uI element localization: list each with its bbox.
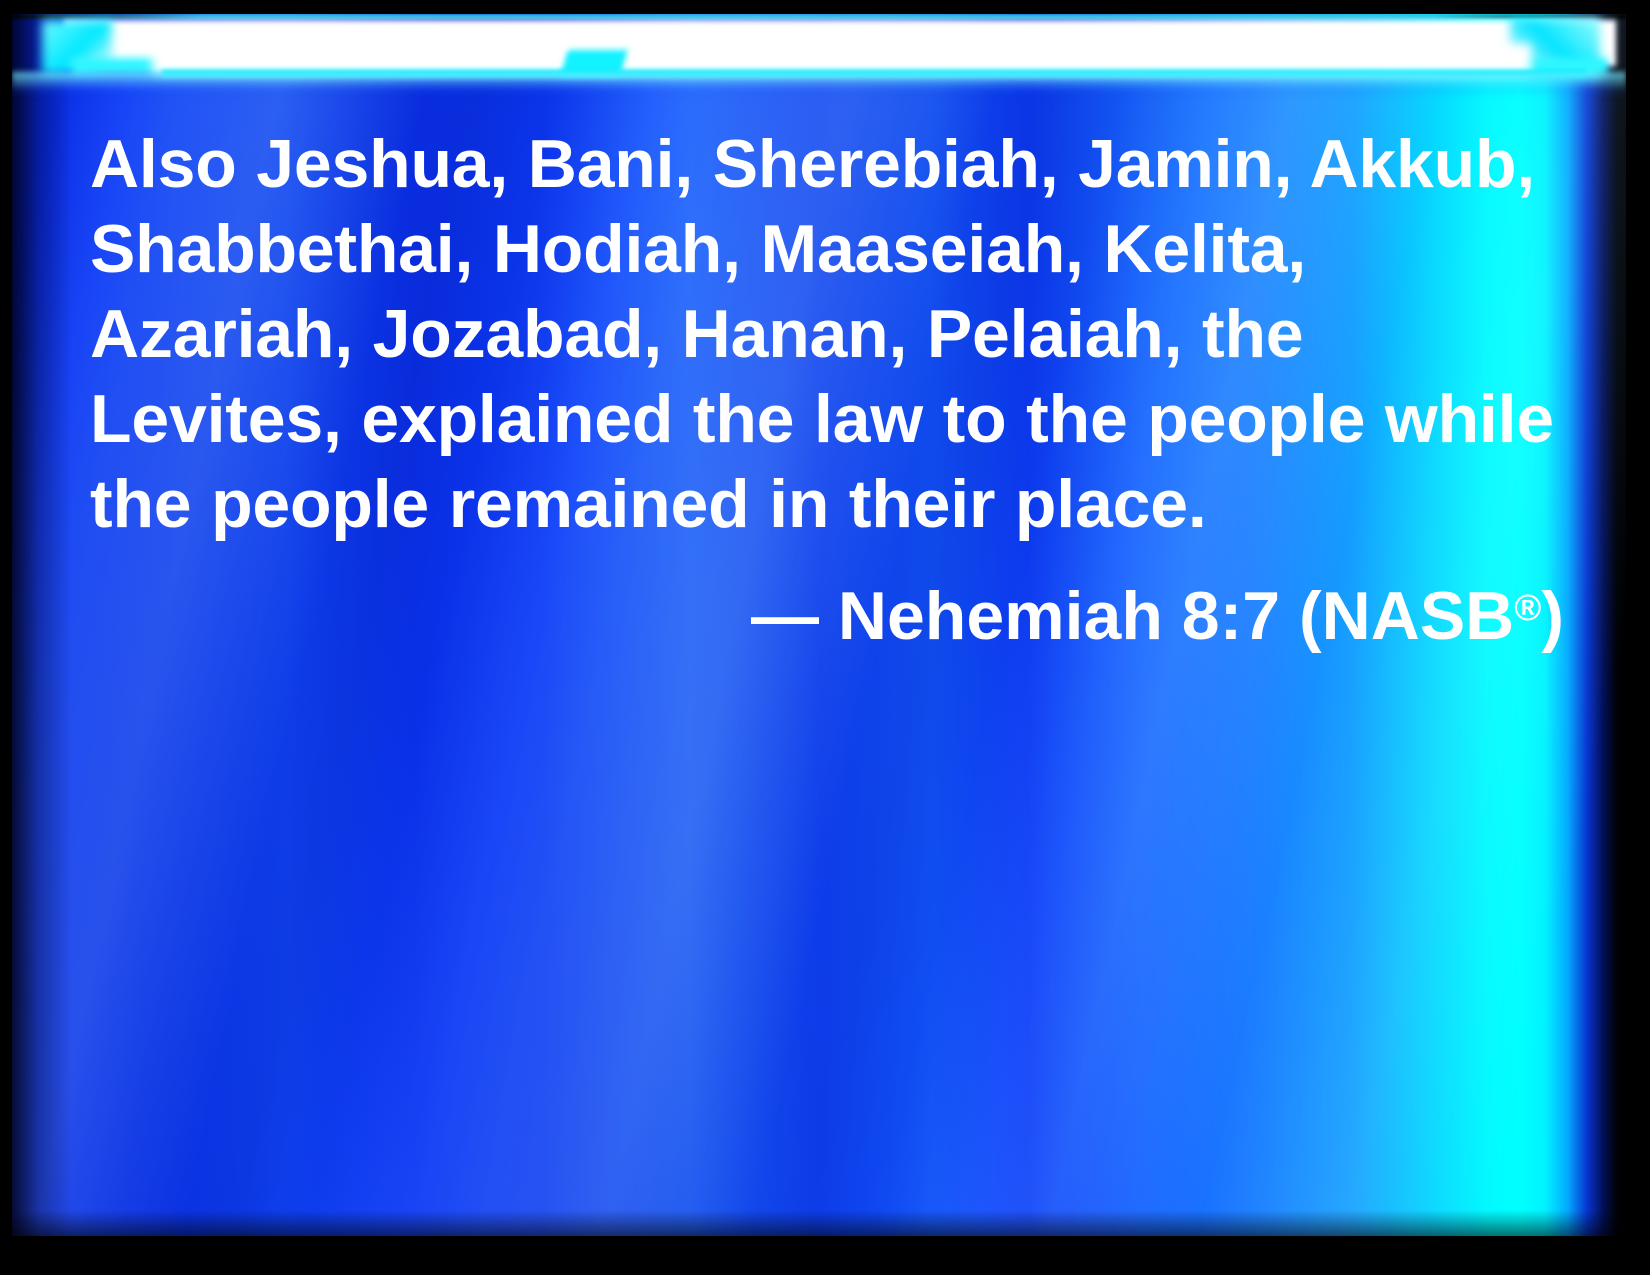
- bottom-edge-shadow: [12, 1210, 1626, 1236]
- top-cyan-hairline: [162, 70, 1586, 77]
- verse-body-text: Also Jeshua, Bani, Sherebiah, Jamin, Akk…: [90, 122, 1570, 547]
- attribution-reference: 8:7: [1182, 578, 1280, 654]
- scripture-slide: Also Jeshua, Bani, Sherebiah, Jamin, Akk…: [0, 0, 1650, 1275]
- left-edge-shadow: [12, 14, 72, 1236]
- top-cyan-band: [72, 58, 1608, 74]
- verse-attribution: — Nehemiah 8:7 (NASB®): [90, 565, 1570, 659]
- top-band-notch: [560, 50, 627, 76]
- top-hairline: [12, 14, 1626, 19]
- top-white-band-inner: [152, 44, 1531, 74]
- top-right-cyan-glow: [1510, 18, 1600, 78]
- top-left-cyan-glow: [42, 20, 112, 74]
- attribution-version-open: (NASB: [1299, 578, 1514, 654]
- attribution-book: Nehemiah: [838, 578, 1163, 654]
- attribution-version-close: ): [1541, 578, 1564, 654]
- top-glow-fade: [12, 72, 1626, 98]
- verse-block: Also Jeshua, Bani, Sherebiah, Jamin, Akk…: [90, 122, 1570, 659]
- top-glow-band: [12, 14, 1626, 92]
- attribution-dash: —: [751, 578, 819, 654]
- slide-background-canvas: Also Jeshua, Bani, Sherebiah, Jamin, Akk…: [12, 14, 1626, 1236]
- registered-trademark-icon: ®: [1514, 587, 1541, 628]
- top-white-band: [64, 20, 1616, 66]
